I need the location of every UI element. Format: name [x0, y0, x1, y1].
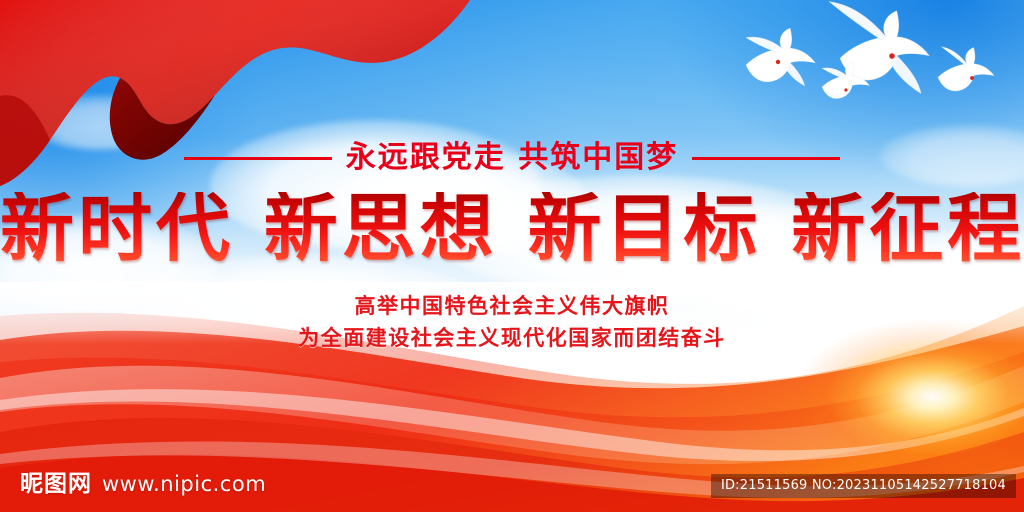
dove-icon: [746, 28, 815, 86]
main-title: 新时代 新思想 新目标 新征程: [0, 192, 1024, 266]
subtitle-line-2: 为全面建设社会主义现代化国家而团结奋斗: [0, 322, 1024, 352]
headline-row: 永远跟党走 共筑中国梦: [0, 136, 1024, 180]
watermark-site-name: 昵图网: [20, 473, 92, 496]
dove-icon-group: [700, 0, 1024, 120]
decorative-line-right-icon: [692, 157, 840, 160]
image-id-badge: ID:21511569 NO:20231105142527718104: [711, 474, 1016, 498]
decorative-line-left-icon: [184, 157, 332, 160]
watermark: 昵图网 www.nipic.com: [20, 473, 266, 496]
dove-icon: [938, 47, 994, 91]
watermark-url: www.nipic.com: [102, 474, 266, 496]
subtitle-line-1: 高举中国特色社会主义伟大旗帜: [0, 290, 1024, 320]
poster-canvas: 永远跟党走 共筑中国梦 新时代 新思想 新目标 新征程 高举中国特色社会主义伟大…: [0, 0, 1024, 512]
headline-text: 永远跟党走 共筑中国梦: [346, 143, 678, 173]
